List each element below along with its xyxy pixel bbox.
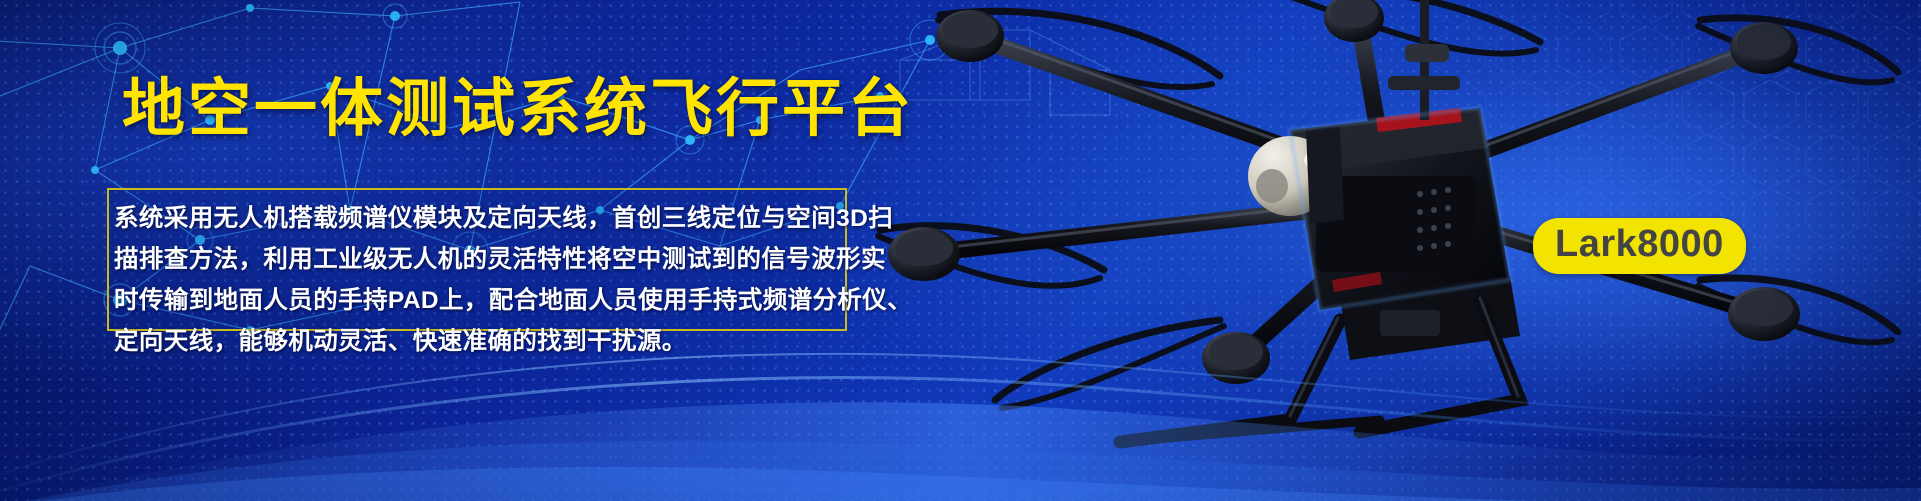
page-title: 地空一体测试系统飞行平台 (122, 78, 914, 141)
description-text: 系统采用无人机搭载频谱仪模块及定向天线，首创三线定位与空间3D扫 描排查方法，利… (114, 198, 854, 362)
description-line-4: 定向天线，能够机动灵活、快速准确的找到干扰源。 (114, 321, 854, 362)
hero-banner: 地空一体测试系统飞行平台 系统采用无人机搭载频谱仪模块及定向天线，首创三线定位与… (0, 0, 1921, 501)
description-line-3: 时传输到地面人员的手持PAD上，配合地面人员使用手持式频谱分析仪、 (114, 280, 854, 321)
description-line-2: 描排查方法，利用工业级无人机的灵活特性将空中测试到的信号波形实 (114, 239, 854, 280)
description-line-1: 系统采用无人机搭载频谱仪模块及定向天线，首创三线定位与空间3D扫 (114, 198, 854, 239)
model-badge: Lark8000 (1533, 218, 1746, 274)
